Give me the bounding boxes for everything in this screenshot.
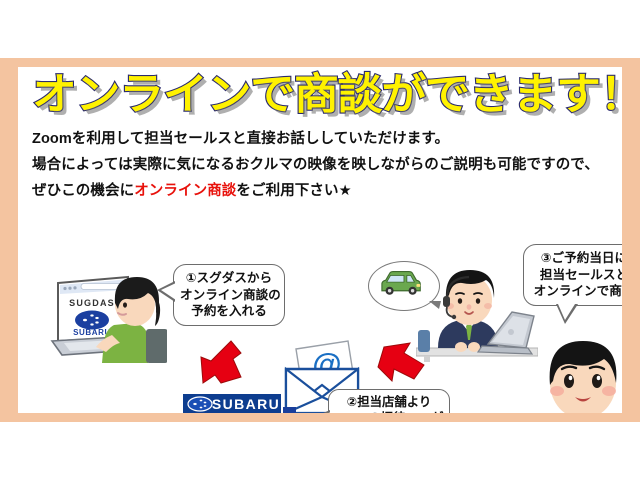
step-1-line-1: ①スグダスから: [180, 270, 278, 287]
step-3-line-3: オンラインで商談: [530, 283, 622, 300]
customer-with-laptop-illustration: [523, 325, 622, 413]
promo-banner-frame: オンラインで商談ができます！！ Zoomを利用して担当セールスと直接お話ししてい…: [0, 58, 640, 422]
arrow-up-right-icon: [374, 339, 436, 391]
step-2-line-2: Zoomの招待URLが: [334, 410, 444, 413]
step-2-bubble: ②担当店舗より Zoomの招待URLが メールで届く。 スマホでもパソコン でも…: [328, 389, 450, 413]
subaru-dealership-illustration: SUBARU: [170, 383, 310, 413]
bubble-tail-inner: [558, 304, 575, 320]
page-title: オンラインで商談ができます！！: [32, 69, 622, 121]
step-1-bubble: ①スグダスから オンライン商談の 予約を入れる: [173, 264, 285, 326]
bubble-tail-inner: [316, 412, 331, 413]
step-1-line-3: 予約を入れる: [180, 303, 278, 320]
body-text-line-3-suffix: をご利用下さい★: [236, 183, 351, 199]
body-text-line-2: 場合によっては実際に気になるおクルマの映像を映しながらのご説明も可能ですので、: [32, 153, 599, 174]
body-text-line-3-prefix: ぜひこの機会に: [32, 183, 134, 199]
step-1-line-2: オンライン商談の: [180, 287, 278, 304]
person-at-laptop-illustration: SUGDAS SUBARU: [42, 263, 167, 363]
bubble-tail-inner: [161, 283, 176, 300]
svg-text:SUBARU: SUBARU: [73, 328, 111, 337]
step-2-line-1: ②担当店舗より: [334, 394, 444, 410]
svg-text:SUGDAS: SUGDAS: [69, 298, 115, 308]
step-3-line-1: ③ご予約当日に: [530, 250, 622, 267]
promo-banner-content: オンラインで商談ができます！！ Zoomを利用して担当セールスと直接お話ししてい…: [18, 67, 622, 413]
body-text-line-3-emphasis: オンライン商談: [134, 183, 236, 199]
svg-text:SUBARU: SUBARU: [212, 396, 280, 412]
step-3-bubble: ③ご予約当日に 担当セールスと オンラインで商談: [523, 244, 622, 306]
body-text-line-1: Zoomを利用して担当セールスと直接お話ししていただけます。: [32, 127, 449, 148]
step-3-line-2: 担当セールスと: [530, 267, 622, 284]
body-text-line-3: ぜひこの機会にオンライン商談をご利用下さい★: [32, 179, 352, 200]
